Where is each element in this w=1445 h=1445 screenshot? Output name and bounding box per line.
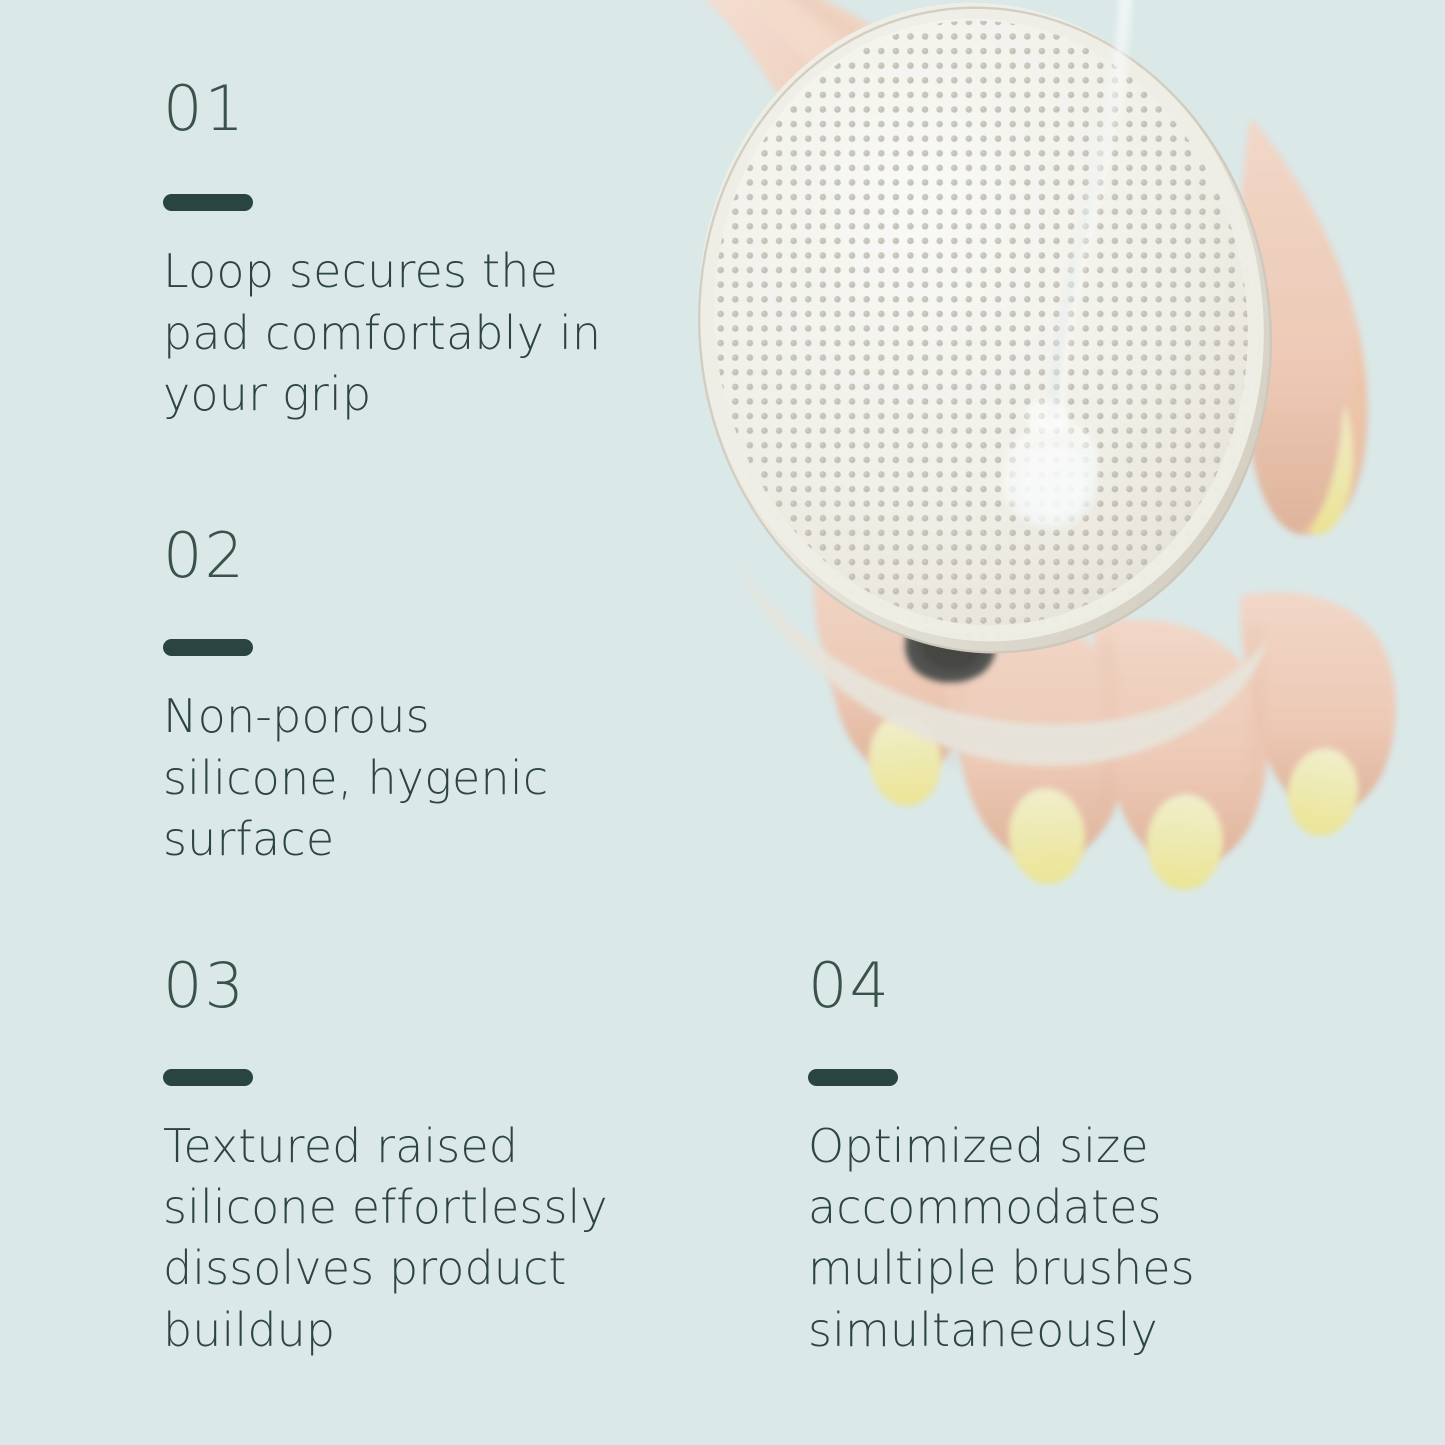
feature-block-02: 02 Non-porous silicone, hygenic surface — [163, 525, 703, 871]
feature-block-03: 03 Textured raised silicone effortlessly… — [163, 955, 723, 1361]
product-photo — [655, 0, 1445, 935]
feature-number-02: 02 — [163, 525, 703, 587]
feature-number-04: 04 — [808, 955, 1368, 1017]
photo-illustration — [655, 0, 1445, 935]
feature-text-02: Non-porous silicone, hygenic surface — [163, 686, 703, 871]
accent-dash-01 — [163, 194, 253, 211]
accent-dash-04 — [808, 1069, 898, 1086]
feature-number-01: 01 — [163, 78, 703, 140]
feature-text-03: Textured raised silicone effortlessly di… — [163, 1116, 723, 1361]
feature-number-03: 03 — [163, 955, 723, 1017]
feature-text-01: Loop secures the pad comfortably in your… — [163, 241, 703, 426]
feature-block-01: 01 Loop secures the pad comfortably in y… — [163, 78, 703, 426]
accent-dash-03 — [163, 1069, 253, 1086]
feature-block-04: 04 Optimized size accommodates multiple … — [808, 955, 1368, 1361]
infographic-page: 01 Loop secures the pad comfortably in y… — [0, 0, 1445, 1445]
accent-dash-02 — [163, 639, 253, 656]
feature-text-04: Optimized size accommodates multiple bru… — [808, 1116, 1368, 1361]
